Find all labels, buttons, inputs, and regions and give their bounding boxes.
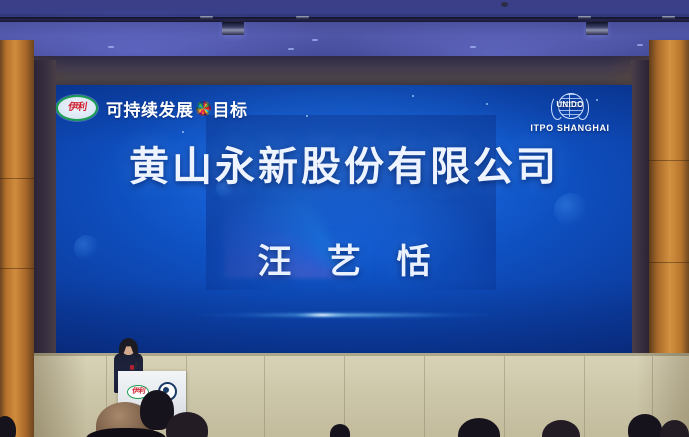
column-seam bbox=[0, 268, 34, 269]
screen-light-core bbox=[294, 311, 350, 319]
ceiling-spotlight bbox=[662, 16, 675, 19]
ceiling-led bbox=[312, 39, 318, 41]
ceiling-spotlight bbox=[586, 22, 608, 35]
unido-lockup: UNIDO ITPO SHANGHAI bbox=[522, 91, 618, 133]
ceiling-spotlight bbox=[200, 16, 213, 19]
column-seam bbox=[0, 178, 34, 179]
ceiling-led bbox=[470, 46, 476, 48]
campaign-text-right: 目标 bbox=[213, 96, 248, 121]
audience-head bbox=[330, 424, 350, 437]
background-orb bbox=[554, 193, 588, 227]
slide-company-title: 黄山永新股份有限公司 bbox=[56, 147, 632, 187]
ceiling-recessed-light bbox=[501, 2, 508, 7]
sdg-color-wheel-icon bbox=[196, 101, 211, 116]
ceiling-led bbox=[637, 44, 643, 46]
sdg-campaign-lockup: 可持续发展 目标 bbox=[106, 96, 248, 121]
campaign-text-left: 可持续发展 bbox=[106, 96, 194, 121]
column-seam bbox=[649, 160, 689, 161]
unido-acronym: UNIDO bbox=[551, 100, 589, 109]
unido-office-label: ITPO SHANGHAI bbox=[522, 123, 618, 133]
ceiling-led bbox=[108, 46, 114, 48]
led-screen: 伊利 可持续发展 目标 UNIDO ITPO SHANGHAI bbox=[56, 85, 632, 353]
slide-presenter-name: 汪 艺 恬 bbox=[56, 245, 632, 279]
brand-lockup: 伊利 可持续发展 目标 bbox=[56, 95, 248, 121]
yili-logo: 伊利 bbox=[56, 95, 98, 121]
ceiling-spotlight bbox=[578, 16, 591, 19]
wood-column-left bbox=[0, 40, 34, 437]
conference-hall-photo: 伊利 可持续发展 目标 UNIDO ITPO SHANGHAI bbox=[0, 0, 689, 437]
podium-yili-text: 伊利 bbox=[131, 388, 145, 395]
ceiling-spotlight bbox=[296, 16, 309, 19]
unido-emblem-icon: UNIDO bbox=[551, 91, 589, 122]
column-seam bbox=[649, 262, 689, 263]
ceiling-spotlight bbox=[222, 22, 244, 35]
ceiling-led bbox=[288, 48, 294, 50]
soffit-shading bbox=[0, 56, 689, 88]
yili-logo-text: 伊利 bbox=[67, 103, 86, 113]
slide-header: 伊利 可持续发展 目标 UNIDO ITPO SHANGHAI bbox=[56, 85, 632, 143]
